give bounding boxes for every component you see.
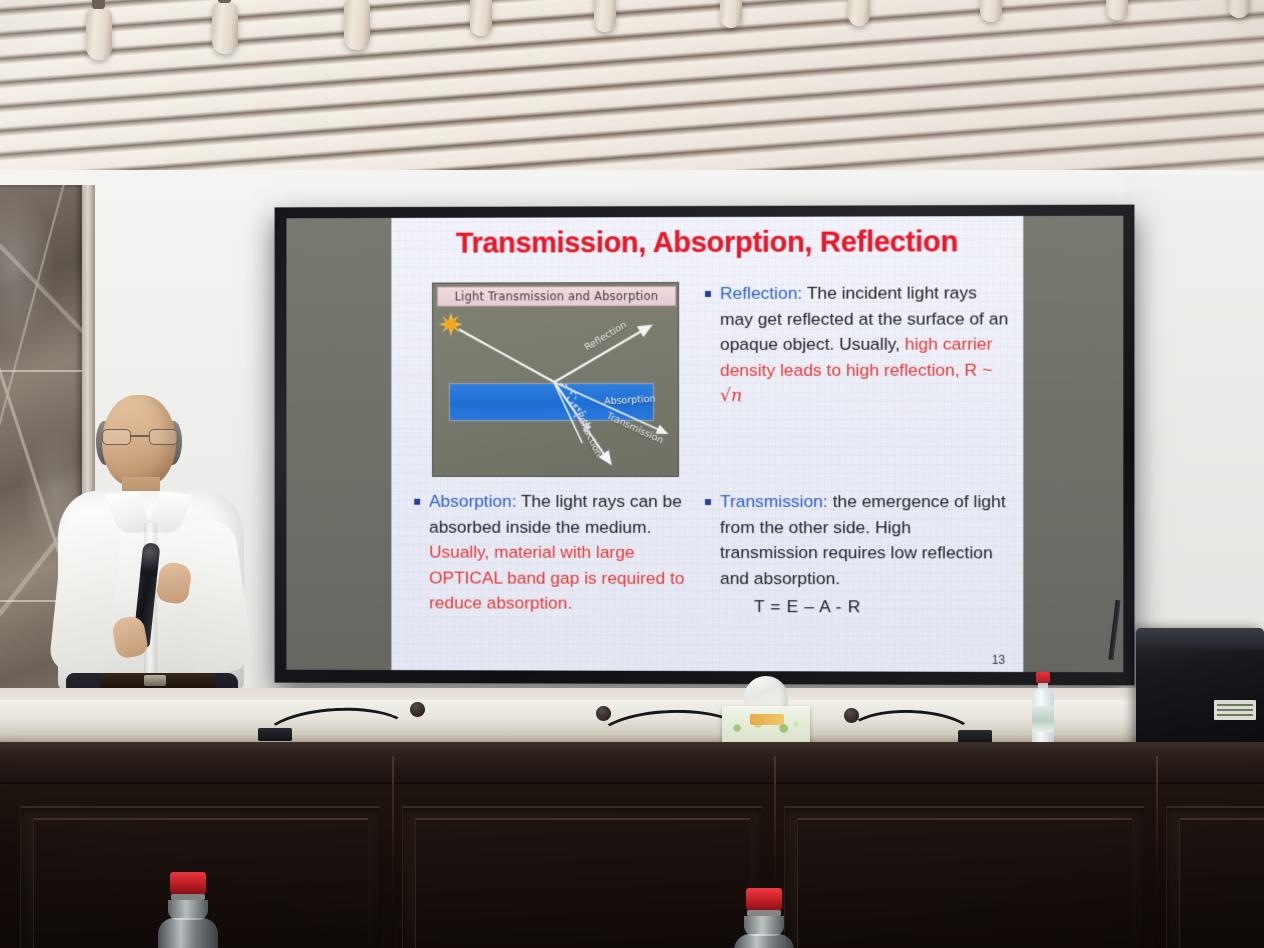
podium-seam xyxy=(1156,756,1158,948)
bullet-marker-icon xyxy=(705,499,711,505)
bottle-cap xyxy=(1036,672,1050,683)
ceiling-spotlight xyxy=(344,0,370,50)
bottle-cap xyxy=(170,872,206,894)
bullet-emphasis: Usually, material with large OPTICAL ban… xyxy=(429,542,684,613)
led-display-panel: Transmission, Absorption, Reflection Lig… xyxy=(286,216,1123,673)
column-seam xyxy=(0,370,82,372)
slide-title: Transmission, Absorption, Reflection xyxy=(391,226,1023,261)
podium-rail xyxy=(0,756,1264,784)
slide-page-number: 13 xyxy=(992,653,1005,667)
bottle-body xyxy=(158,918,218,948)
slatted-ceiling xyxy=(0,0,1264,190)
led-display-bezel: Transmission, Absorption, Reflection Lig… xyxy=(275,205,1135,686)
podium-seam xyxy=(392,756,394,948)
bottle-label xyxy=(1032,706,1054,732)
ceiling-spotlight xyxy=(720,0,742,28)
desk-water-bottle xyxy=(1032,672,1054,746)
light-diagram-figure: Light Transmission and Absorption xyxy=(432,282,679,477)
figure-ray-paths xyxy=(433,283,679,477)
tissue-box xyxy=(722,706,810,744)
ceiling-spotlight xyxy=(212,0,238,54)
podium-panel xyxy=(784,806,1144,948)
microphone-grille xyxy=(140,542,160,578)
bottle-cap xyxy=(746,888,782,910)
bullet-transmission: Transmission: the emergence of light fro… xyxy=(702,489,1009,620)
monitor xyxy=(1136,628,1264,746)
podium-panel xyxy=(1166,806,1264,948)
ceiling-spotlight xyxy=(594,0,616,32)
bottle-body xyxy=(734,934,794,948)
glasses-icon xyxy=(102,429,178,445)
desk-microphone xyxy=(262,698,432,744)
bullet-keyword: Transmission: xyxy=(720,491,828,511)
bullet-marker-icon xyxy=(414,499,420,505)
bottle-neck xyxy=(744,916,784,936)
transmission-equation: T = E – A - R xyxy=(754,593,1009,620)
bullet-keyword: Absorption: xyxy=(429,491,516,511)
monitor-top-bar xyxy=(1136,628,1264,650)
ceiling-spotlight xyxy=(470,0,492,36)
bullet-absorption: Absorption: The light rays can be absorb… xyxy=(411,489,700,617)
right-wall-panel xyxy=(1125,175,1264,695)
ceiling-spotlight xyxy=(86,6,112,60)
bullet-marker-icon xyxy=(705,291,711,297)
presenter-belt xyxy=(100,673,216,688)
desk-microphone xyxy=(846,700,996,746)
monitor-label-tag xyxy=(1214,700,1256,720)
ceiling-spotlight xyxy=(980,0,1002,22)
podium-panel xyxy=(402,806,762,948)
bullet-keyword: Reflection: xyxy=(720,283,802,303)
bullet-emphasis-math: √n xyxy=(720,386,742,406)
lecture-hall-scene: Transmission, Absorption, Reflection Lig… xyxy=(0,0,1264,948)
tissue-box-brand-mark xyxy=(750,714,784,725)
ceiling-spotlight xyxy=(848,0,870,26)
bottle-neck xyxy=(168,900,208,920)
belt-buckle xyxy=(144,675,166,686)
bullet-reflection: Reflection: The incident light rays may … xyxy=(702,280,1009,410)
presentation-slide: Transmission, Absorption, Reflection Lig… xyxy=(391,216,1023,672)
